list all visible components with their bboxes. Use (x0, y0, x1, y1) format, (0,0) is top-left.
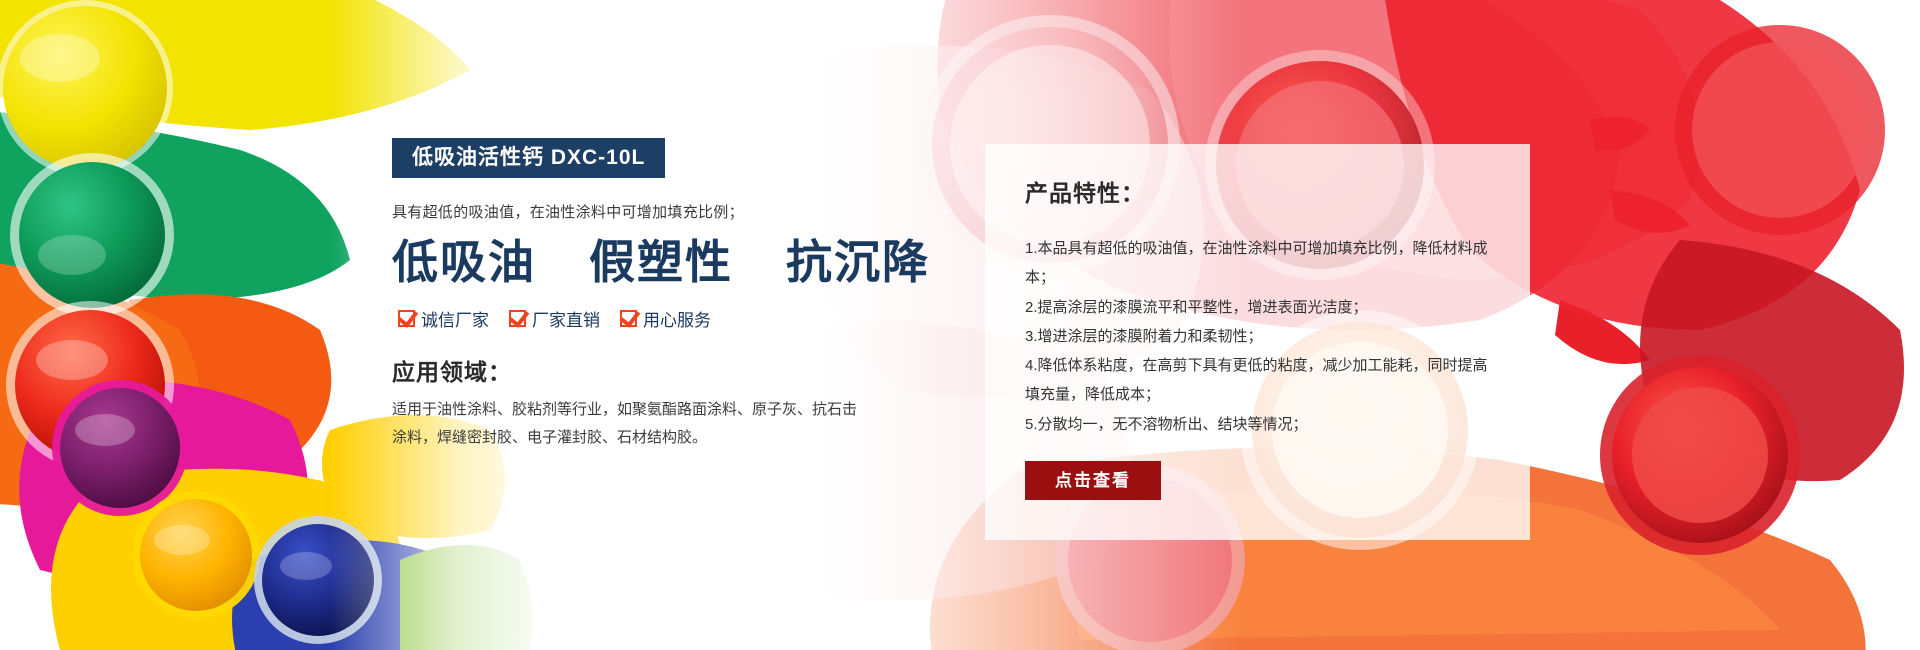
headline-keywords: 低吸油 假塑性 抗沉降 (392, 238, 912, 289)
headline-word-3: 抗沉降 (786, 237, 930, 288)
trust-badge-1-label: 诚信厂家 (421, 306, 489, 331)
check-box-icon (398, 310, 415, 327)
headline-word-1: 低吸油 (392, 237, 536, 288)
trust-badge-2: 厂家直销 (509, 306, 600, 331)
product-subtitle: 具有超低的吸油值，在油性涂料中可增加填充比例； (392, 202, 912, 225)
application-section-title: 应用领域： (392, 353, 912, 387)
application-section-body: 适用于油性涂料、胶粘剂等行业，如聚氨酯路面涂料、原子灰、抗石击涂料，焊缝密封胶、… (392, 396, 862, 452)
headline-word-2: 假塑性 (589, 237, 733, 288)
check-box-icon (509, 310, 526, 327)
feature-item-5: 5.分散均一，无不溶物析出、结块等情况； (1025, 410, 1490, 439)
features-list: 1.本品具有超低的吸油值，在油性涂料中可增加填充比例，降低材料成本； 2.提高涂… (1025, 234, 1490, 439)
feature-item-4: 4.降低体系粘度，在高剪下具有更低的粘度，减少加工能耗，同时提高填充量，降低成本… (1025, 351, 1490, 410)
product-title-badge: 低吸油活性钙 DXC-10L (392, 138, 665, 178)
feature-item-2: 2.提高涂层的漆膜流平和平整性，增进表面光洁度； (1025, 293, 1490, 322)
features-panel-title: 产品特性： (1025, 174, 1496, 208)
product-banner: 低吸油活性钙 DXC-10L 具有超低的吸油值，在油性涂料中可增加填充比例； 低… (0, 0, 1920, 650)
product-features-panel: 产品特性： 1.本品具有超低的吸油值，在油性涂料中可增加填充比例，降低材料成本；… (985, 144, 1530, 540)
view-details-button[interactable]: 点击查看 (1025, 461, 1161, 500)
trust-badge-1: 诚信厂家 (398, 306, 489, 331)
trust-badge-3: 用心服务 (620, 306, 711, 331)
trust-badge-2-label: 厂家直销 (532, 306, 600, 331)
feature-item-1: 1.本品具有超低的吸油值，在油性涂料中可增加填充比例，降低材料成本； (1025, 234, 1490, 293)
left-content-column: 低吸油活性钙 DXC-10L 具有超低的吸油值，在油性涂料中可增加填充比例； 低… (392, 138, 912, 452)
trust-badge-3-label: 用心服务 (643, 306, 711, 331)
feature-item-3: 3.增进涂层的漆膜附着力和柔韧性； (1025, 322, 1490, 351)
check-box-icon (620, 310, 637, 327)
trust-badges-row: 诚信厂家 厂家直销 用心服务 (398, 306, 912, 331)
